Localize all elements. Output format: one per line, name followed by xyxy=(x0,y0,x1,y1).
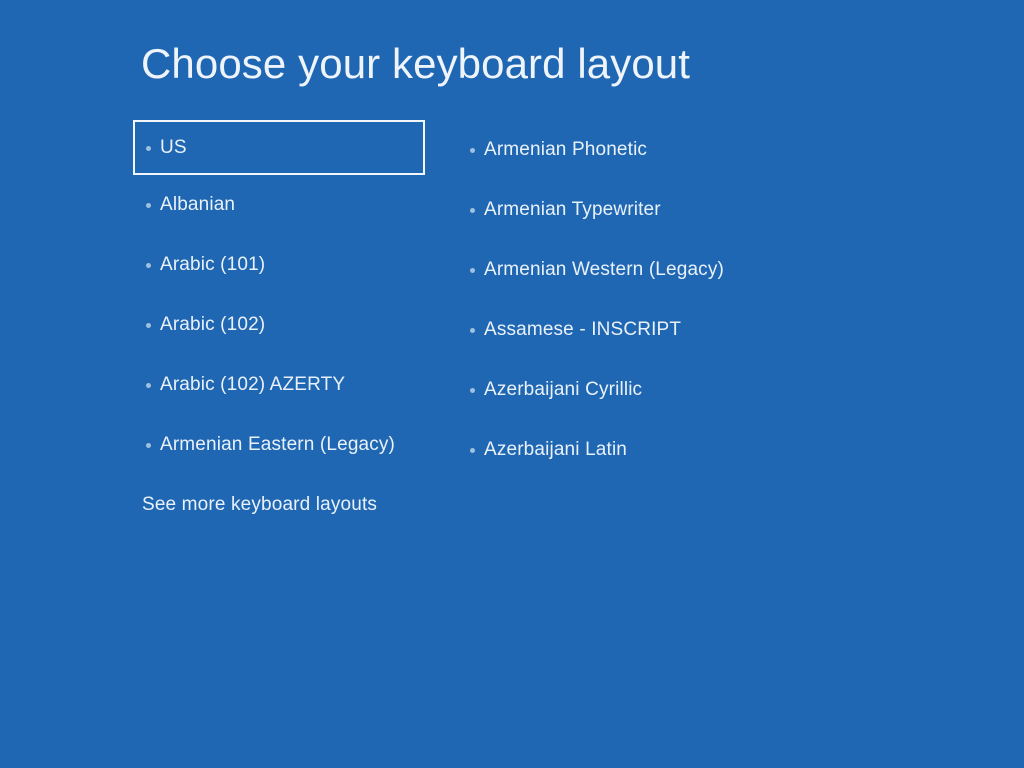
bullet-icon xyxy=(470,388,475,393)
keyboard-layout-option[interactable]: Armenian Typewriter xyxy=(457,180,877,240)
keyboard-layout-option[interactable]: Azerbaijani Cyrillic xyxy=(457,360,877,420)
keyboard-layout-option-label: Arabic (101) xyxy=(160,253,265,277)
keyboard-layout-option-label: Armenian Typewriter xyxy=(484,198,661,222)
keyboard-layout-option-label: Albanian xyxy=(160,193,235,217)
bullet-icon xyxy=(470,448,475,453)
keyboard-layout-list-right: Armenian PhoneticArmenian TypewriterArme… xyxy=(457,120,877,480)
keyboard-layout-option-label: Azerbaijani Cyrillic xyxy=(484,378,642,402)
bullet-icon xyxy=(146,203,151,208)
keyboard-layout-option[interactable]: Armenian Western (Legacy) xyxy=(457,240,877,300)
keyboard-layout-option[interactable]: US xyxy=(133,120,425,175)
bullet-icon xyxy=(470,328,475,333)
keyboard-layout-option[interactable]: Azerbaijani Latin xyxy=(457,420,877,480)
bullet-icon xyxy=(146,443,151,448)
keyboard-layout-option[interactable]: Assamese - INSCRIPT xyxy=(457,300,877,360)
keyboard-layout-option-label: Arabic (102) AZERTY xyxy=(160,373,345,397)
bullet-icon xyxy=(146,146,151,151)
keyboard-layout-option-label: Armenian Phonetic xyxy=(484,138,647,162)
keyboard-layout-option-label: Armenian Western (Legacy) xyxy=(484,258,724,282)
keyboard-layout-option-label: Assamese - INSCRIPT xyxy=(484,318,681,342)
keyboard-layout-option-label: US xyxy=(160,136,187,160)
bullet-icon xyxy=(146,323,151,328)
bullet-icon xyxy=(470,268,475,273)
keyboard-layout-option-label: Armenian Eastern (Legacy) xyxy=(160,433,395,457)
keyboard-layout-screen: Choose your keyboard layout USAlbanianAr… xyxy=(0,0,1024,768)
keyboard-layout-option-label: Azerbaijani Latin xyxy=(484,438,627,462)
bullet-icon xyxy=(146,383,151,388)
bullet-icon xyxy=(146,263,151,268)
keyboard-layout-option[interactable]: Armenian Phonetic xyxy=(457,120,877,180)
bullet-icon xyxy=(470,148,475,153)
page-title: Choose your keyboard layout xyxy=(141,38,690,90)
bullet-icon xyxy=(470,208,475,213)
keyboard-layout-option-label: Arabic (102) xyxy=(160,313,265,337)
see-more-keyboard-layouts-link[interactable]: See more keyboard layouts xyxy=(142,493,377,517)
